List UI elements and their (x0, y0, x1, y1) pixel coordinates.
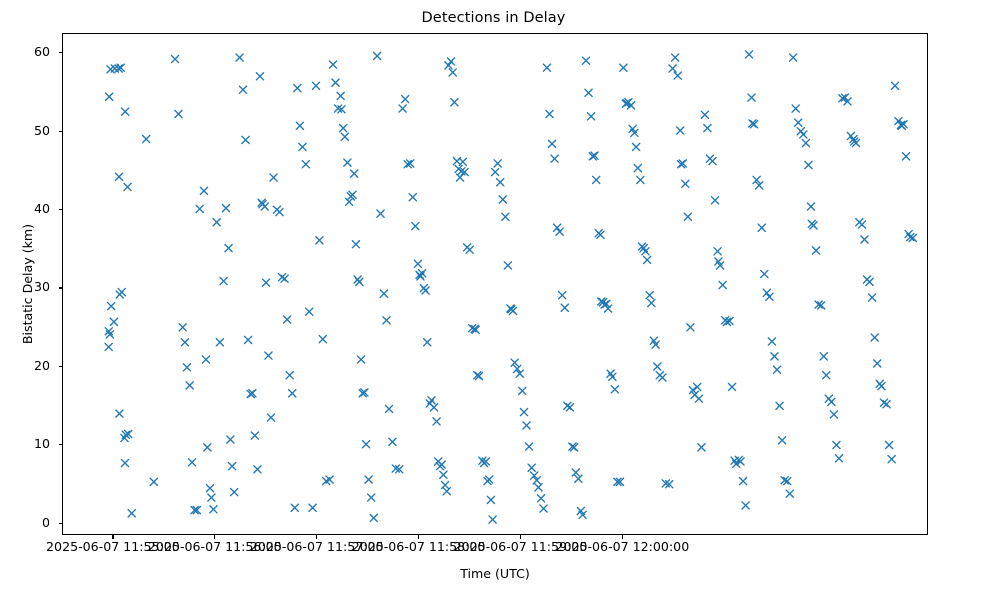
data-point (802, 139, 809, 146)
data-point (687, 324, 694, 331)
data-point (459, 158, 466, 165)
data-point (611, 386, 618, 393)
data-point (543, 64, 550, 71)
data-point (786, 490, 793, 497)
data-point (225, 245, 232, 252)
data-point (888, 456, 895, 463)
data-point (179, 324, 186, 331)
data-point (891, 82, 898, 89)
x-tick-mark (418, 535, 419, 539)
data-point (742, 502, 749, 509)
data-point (341, 133, 348, 140)
data-point (346, 198, 353, 205)
data-point (711, 197, 718, 204)
y-tick-mark (59, 366, 63, 367)
y-tick-label: 20 (4, 360, 50, 373)
data-point (526, 443, 533, 450)
data-point (352, 241, 359, 248)
data-point (289, 390, 296, 397)
data-point (709, 157, 716, 164)
data-point (761, 270, 768, 277)
y-tick-label: 0 (4, 517, 50, 530)
data-point (443, 488, 450, 495)
data-point (204, 444, 211, 451)
data-point (502, 213, 509, 220)
data-point (332, 79, 339, 86)
data-point (823, 372, 830, 379)
data-point (121, 459, 128, 466)
data-point (424, 339, 431, 346)
data-point (319, 336, 326, 343)
y-tick-mark (59, 444, 63, 445)
data-point (262, 279, 269, 286)
data-point (701, 111, 708, 118)
data-point (805, 161, 812, 168)
data-point (674, 72, 681, 79)
data-point (646, 292, 653, 299)
data-point (368, 494, 375, 501)
data-point (239, 86, 246, 93)
data-point (790, 54, 797, 61)
data-point (497, 179, 504, 186)
data-point (143, 136, 150, 143)
data-point (281, 275, 288, 282)
plot-area (62, 33, 928, 535)
data-point (561, 304, 568, 311)
data-point (644, 256, 651, 263)
data-point (213, 219, 220, 226)
data-point (356, 278, 363, 285)
data-point (902, 153, 909, 160)
data-point (771, 353, 778, 360)
data-point (302, 161, 309, 168)
y-tick-label: 10 (4, 438, 50, 451)
data-point (254, 466, 261, 473)
data-point (265, 352, 272, 359)
data-point (739, 477, 746, 484)
data-point (694, 383, 701, 390)
y-tick-mark (59, 52, 63, 53)
y-tick-mark (59, 131, 63, 132)
data-point (294, 85, 301, 92)
data-point (399, 105, 406, 112)
data-point (270, 174, 277, 181)
data-point (878, 383, 885, 390)
data-point (128, 510, 135, 517)
y-tick-mark (59, 523, 63, 524)
data-point (812, 247, 819, 254)
data-point (385, 405, 392, 412)
data-point (267, 414, 274, 421)
data-point (286, 372, 293, 379)
y-tick-mark (59, 209, 63, 210)
data-point (620, 64, 627, 71)
data-point (858, 221, 865, 228)
data-point (519, 387, 526, 394)
x-tick-mark (316, 535, 317, 539)
data-point (383, 317, 390, 324)
data-point (763, 289, 770, 296)
data-point (719, 281, 726, 288)
data-point (363, 441, 370, 448)
data-point (766, 293, 773, 300)
data-point (698, 444, 705, 451)
data-point (309, 504, 316, 511)
data-point (695, 395, 702, 402)
data-point (276, 208, 283, 215)
data-point (559, 292, 566, 299)
data-point (296, 122, 303, 129)
data-point (118, 288, 125, 295)
data-point (150, 478, 157, 485)
data-point (306, 308, 313, 315)
data-point (105, 343, 112, 350)
y-tick-label: 30 (4, 281, 50, 294)
data-point (244, 336, 251, 343)
data-point (451, 99, 458, 106)
data-point (299, 143, 306, 150)
data-point (874, 360, 881, 367)
data-point (202, 356, 209, 363)
data-point (492, 168, 499, 175)
data-point (551, 155, 558, 162)
data-point (291, 504, 298, 511)
data-point (520, 408, 527, 415)
data-point (183, 364, 190, 371)
data-point (582, 57, 589, 64)
data-point (704, 125, 711, 132)
data-point (792, 105, 799, 112)
data-point (748, 94, 755, 101)
data-point (181, 339, 188, 346)
y-tick-label: 40 (4, 203, 50, 216)
data-point (869, 294, 876, 301)
data-point (284, 316, 291, 323)
data-point (593, 176, 600, 183)
data-point (637, 176, 644, 183)
data-point (122, 108, 129, 115)
data-point (196, 205, 203, 212)
data-point (208, 494, 215, 501)
data-point (820, 353, 827, 360)
data-point (677, 127, 684, 134)
data-point (883, 401, 890, 408)
data-point (340, 125, 347, 132)
data-point (256, 73, 263, 80)
data-point (575, 475, 582, 482)
y-tick-label: 50 (4, 125, 50, 138)
x-tick-label: 2025-06-07 12:00:00 (532, 541, 712, 554)
data-point (186, 382, 193, 389)
data-point (659, 374, 666, 381)
data-point (171, 56, 178, 63)
data-point (210, 506, 217, 513)
data-point (487, 496, 494, 503)
data-point (499, 196, 506, 203)
data-point (566, 404, 573, 411)
data-point (776, 402, 783, 409)
data-point (377, 210, 384, 217)
data-point (642, 248, 649, 255)
data-point (800, 131, 807, 138)
data-point (684, 213, 691, 220)
data-point (648, 299, 655, 306)
data-point (835, 455, 842, 462)
data-point (440, 471, 447, 478)
data-point (768, 338, 775, 345)
data-point (412, 223, 419, 230)
data-point (402, 96, 409, 103)
page-title: Detections in Delay (0, 10, 987, 26)
data-point (357, 356, 364, 363)
data-point (779, 437, 786, 444)
data-point (220, 277, 227, 284)
data-point (466, 246, 473, 253)
data-point (489, 516, 496, 523)
data-point (312, 82, 319, 89)
data-point (337, 92, 344, 99)
scatter-series (63, 34, 929, 536)
data-point (758, 224, 765, 231)
data-point (108, 303, 115, 310)
data-point (414, 260, 421, 267)
data-point (511, 359, 518, 366)
matplotlib-figure: Detections in Delay Bistatic Delay (km) … (0, 0, 987, 590)
data-point (374, 52, 381, 59)
data-point (654, 363, 661, 370)
data-point (188, 459, 195, 466)
data-point (554, 224, 561, 231)
data-point (231, 488, 238, 495)
data-point (329, 61, 336, 68)
x-tick-mark (112, 535, 113, 539)
data-point (449, 69, 456, 76)
data-point (200, 187, 207, 194)
data-point (430, 404, 437, 411)
data-point (885, 441, 892, 448)
data-point (222, 205, 229, 212)
data-point (344, 159, 351, 166)
data-point (365, 476, 372, 483)
data-point (433, 418, 440, 425)
data-point (682, 180, 689, 187)
data-point (422, 287, 429, 294)
data-point (447, 58, 454, 65)
data-point (535, 484, 542, 491)
data-point (632, 143, 639, 150)
data-point (807, 203, 814, 210)
data-point (175, 110, 182, 117)
data-point (745, 51, 752, 58)
data-point (871, 334, 878, 341)
data-point (866, 278, 873, 285)
data-point (316, 237, 323, 244)
data-point (773, 366, 780, 373)
data-point (861, 236, 868, 243)
data-point (548, 140, 555, 147)
data-point (634, 165, 641, 172)
data-point (409, 194, 416, 201)
data-point (830, 411, 837, 418)
data-point (585, 89, 592, 96)
data-point (389, 438, 396, 445)
data-point (833, 441, 840, 448)
data-point (609, 373, 616, 380)
data-point (537, 495, 544, 502)
data-point (445, 62, 452, 69)
data-point (227, 436, 234, 443)
data-point (556, 228, 563, 235)
data-point (587, 113, 594, 120)
data-point (504, 262, 511, 269)
x-tick-mark (622, 535, 623, 539)
data-point (106, 93, 113, 100)
data-point (115, 173, 122, 180)
y-tick-mark (59, 287, 63, 288)
data-point (110, 318, 117, 325)
data-point (523, 422, 530, 429)
y-tick-label: 60 (4, 46, 50, 59)
data-point (242, 136, 249, 143)
data-point (216, 339, 223, 346)
data-point (351, 170, 358, 177)
data-point (380, 290, 387, 297)
data-point (251, 432, 258, 439)
data-point (669, 65, 676, 72)
data-point (528, 464, 535, 471)
data-point (795, 119, 802, 126)
data-point (116, 410, 123, 417)
data-point (236, 54, 243, 61)
data-point (714, 248, 721, 255)
data-point (546, 110, 553, 117)
data-point (370, 514, 377, 521)
data-point (428, 397, 435, 404)
x-tick-mark (520, 535, 521, 539)
x-tick-mark (214, 535, 215, 539)
data-point (206, 485, 213, 492)
data-point (572, 469, 579, 476)
data-point (828, 398, 835, 405)
data-point (229, 463, 236, 470)
data-point (540, 505, 547, 512)
x-axis-label: Time (UTC) (62, 566, 928, 581)
data-point (728, 383, 735, 390)
data-point (494, 160, 501, 167)
data-point (124, 183, 131, 190)
data-point (672, 54, 679, 61)
